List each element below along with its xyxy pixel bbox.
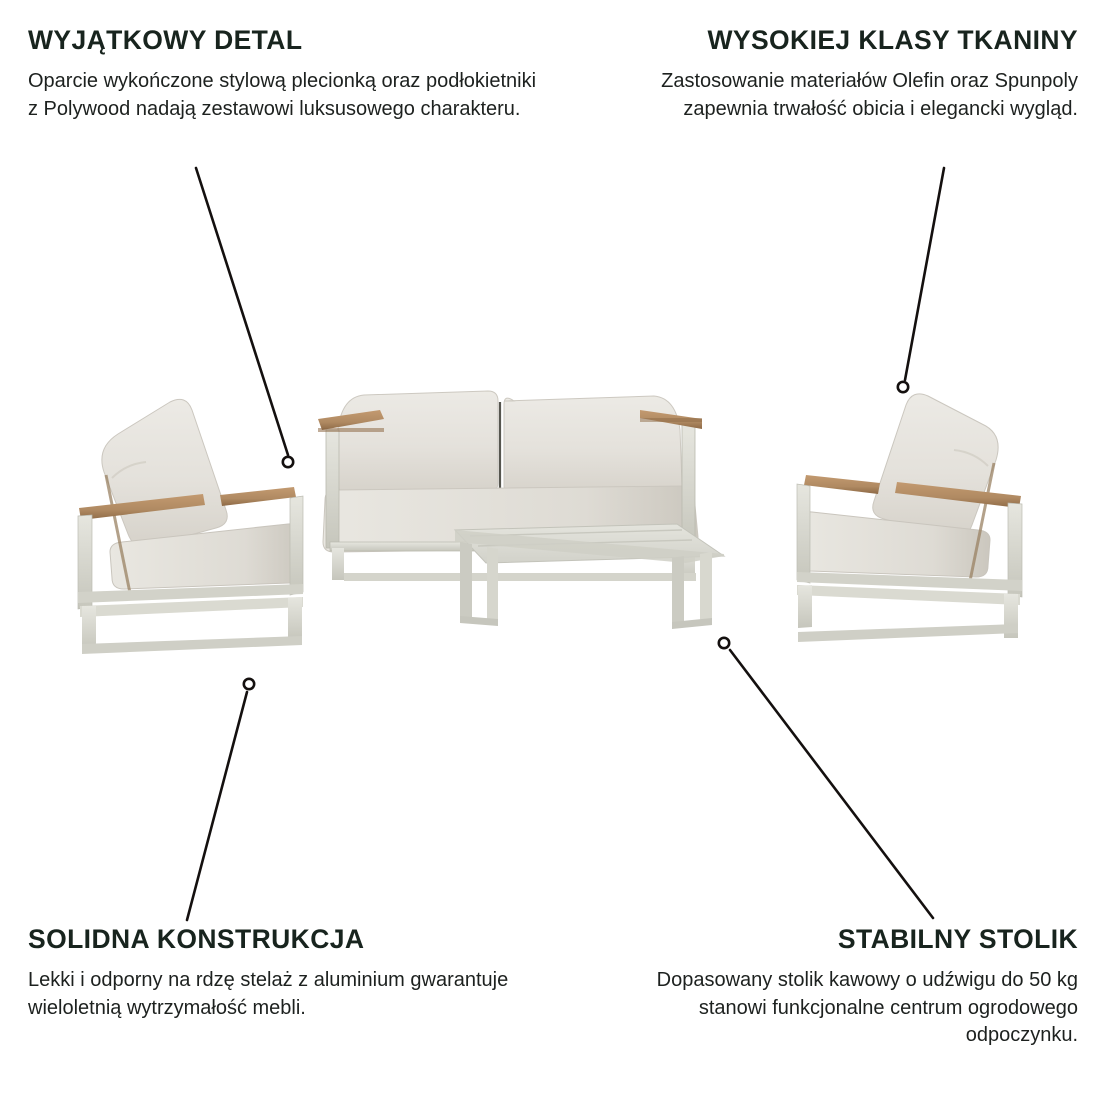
feature-bottom-left-description: Lekki i odporny na rdzę stelaż z alumini… — [28, 967, 538, 1022]
sofa-back-cushion-right — [504, 396, 682, 496]
armchair-left-leg-front — [82, 606, 96, 650]
armchair-right-back-cushion — [873, 394, 998, 538]
feature-bottom-right-title: STABILNY STOLIK — [588, 925, 1078, 954]
feature-top-left-title: WYJĄTKOWY DETAL — [28, 26, 548, 55]
feature-bottom-left-title: SOLIDNA KONSTRUKCJA — [28, 925, 538, 954]
furniture-stage — [0, 330, 1100, 710]
feature-bottom-left: SOLIDNA KONSTRUKCJA Lekki i odporny na r… — [28, 925, 538, 1022]
feature-bottom-right: STABILNY STOLIK Dopasowany stolik kawowy… — [588, 925, 1078, 1050]
armchair-right — [797, 394, 1022, 642]
sofa-leg-front-left — [332, 548, 344, 580]
sofa-foot-rail — [344, 573, 696, 581]
armchair-left-leg-rear — [288, 597, 302, 640]
feature-top-right-description: Zastosowanie materiałów Olefin oraz Spun… — [658, 68, 1078, 123]
product-infographic: WYJĄTKOWY DETAL Oparcie wykończone stylo… — [0, 0, 1100, 1100]
armchair-left — [78, 399, 303, 654]
armchair-left-foot-rail — [82, 636, 302, 654]
feature-bottom-right-description: Dopasowany stolik kawowy o udźwigu do 50… — [588, 967, 1078, 1050]
armchair-right-leg-rear — [798, 585, 812, 628]
armchair-right-armrest-back — [804, 475, 880, 494]
feature-top-right: WYSOKIEJ KLASY TKANINY Zastosowanie mate… — [658, 26, 1078, 123]
armchair-left-armrest-back — [220, 487, 296, 506]
feature-top-right-title: WYSOKIEJ KLASY TKANINY — [658, 26, 1078, 55]
sofa-back-cushion-left — [338, 391, 498, 493]
feature-top-left-description: Oparcie wykończone stylową plecionką ora… — [28, 68, 548, 123]
armchair-right-foot-rail — [798, 624, 1018, 642]
armchair-left-back-cushion — [102, 399, 227, 546]
feature-top-left: WYJĄTKOWY DETAL Oparcie wykończone stylo… — [28, 26, 548, 123]
leader-bottom-left — [187, 692, 247, 920]
